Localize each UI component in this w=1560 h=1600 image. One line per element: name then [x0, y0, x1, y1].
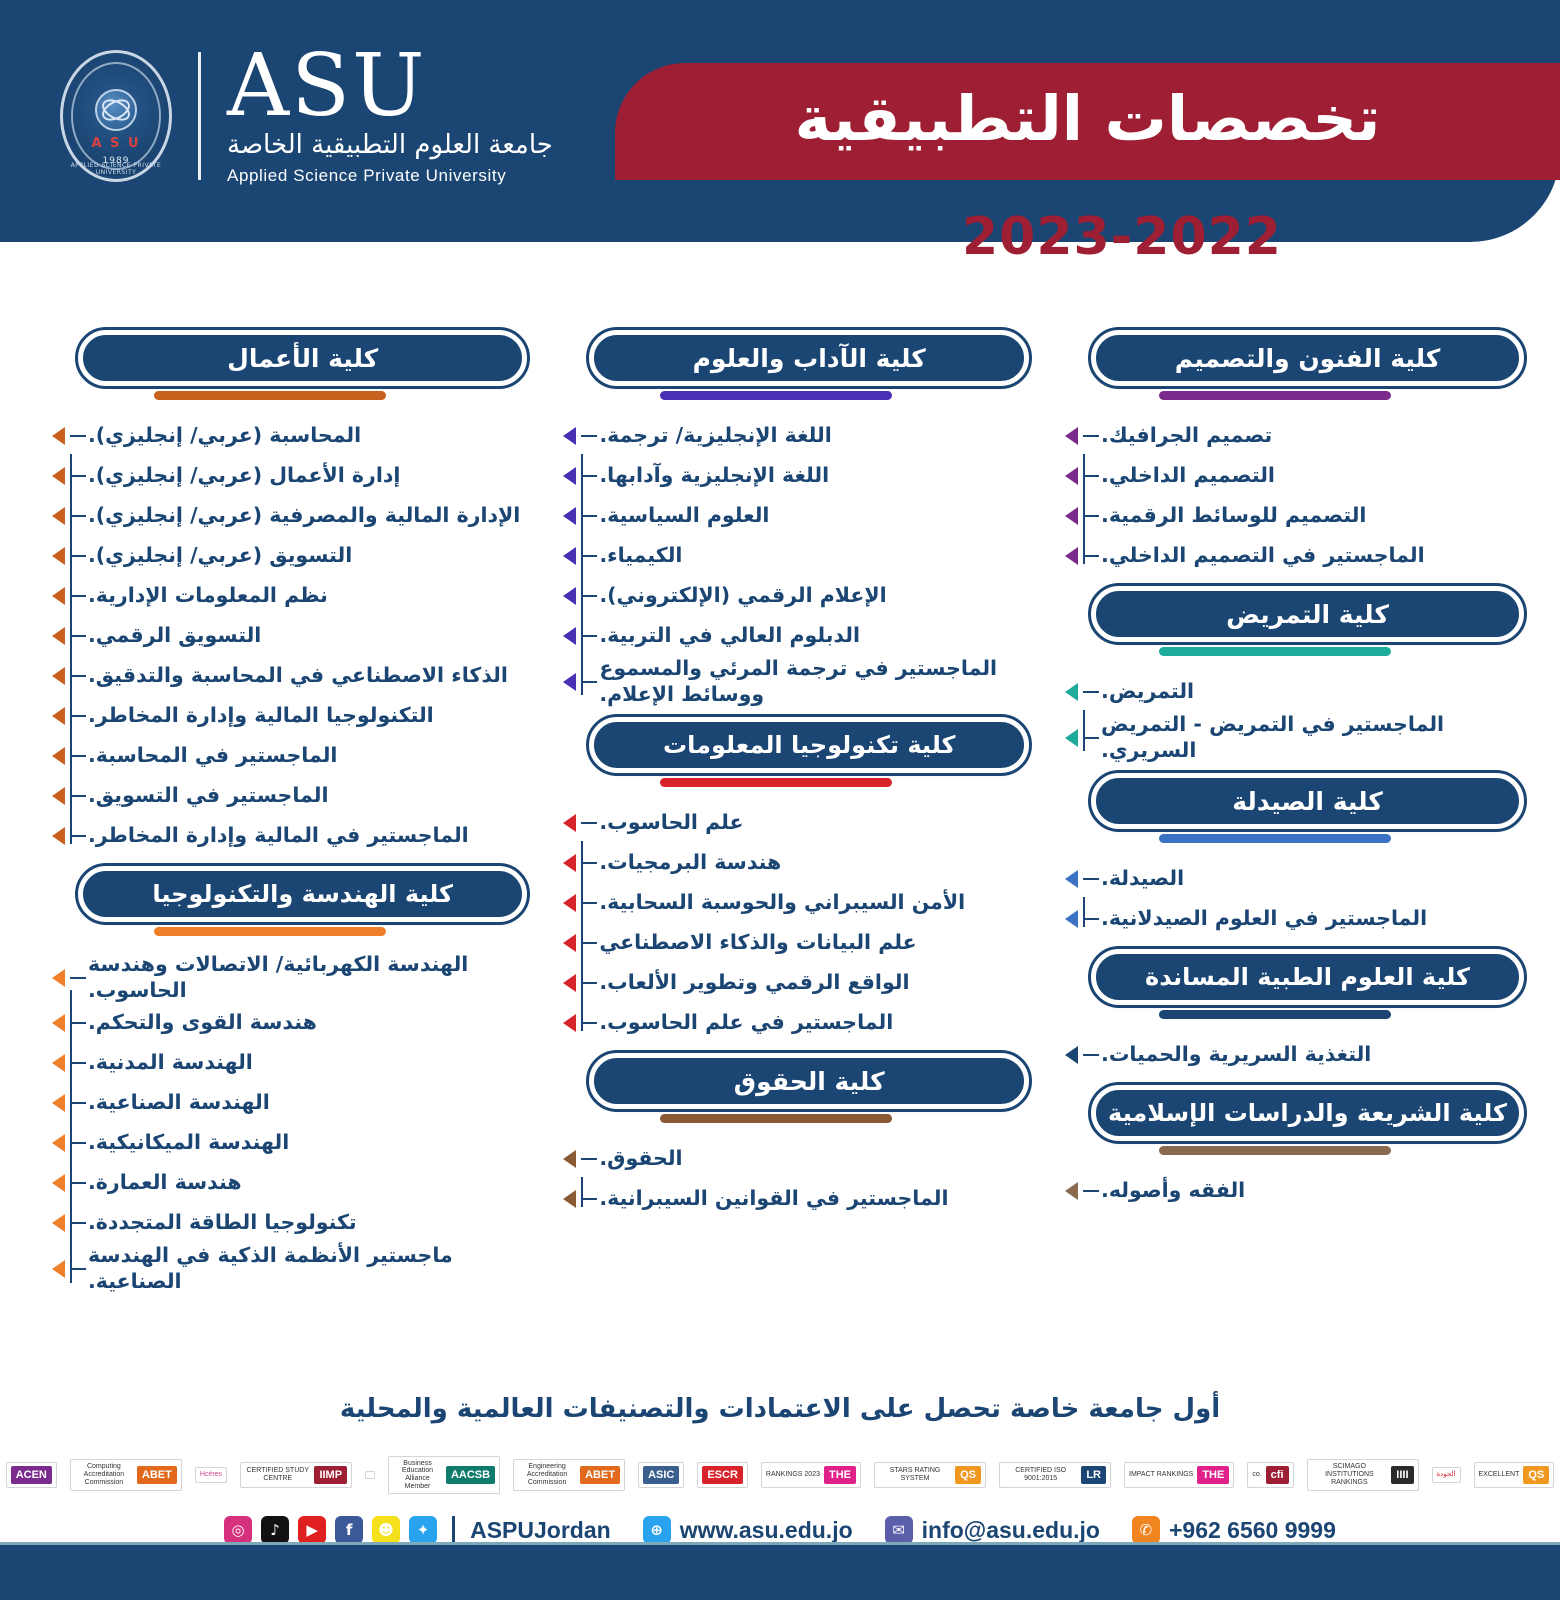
page-title: تخصصات التطبيقية	[795, 88, 1381, 156]
college-header[interactable]: كلية تكنولوجيا المعلومات	[537, 717, 1039, 787]
bullet-arrow-icon	[52, 587, 65, 605]
college-name-pill[interactable]: كلية العلوم الطبية المساندة	[1091, 949, 1524, 1005]
major-label: علم البيانات والذكاء الاصطناعي	[599, 930, 1039, 956]
major-label: نظم المعلومات الإدارية.	[88, 583, 537, 609]
college-name-label: كلية الصيدلة	[1220, 787, 1395, 816]
major-item[interactable]: الهندسة الميكانيكية.	[26, 1123, 537, 1163]
major-item[interactable]: الماجستير في التصميم الداخلي.	[1039, 536, 1534, 576]
major-label: تكنولوجيا الطاقة المتجددة.	[88, 1210, 537, 1236]
connector-stub	[70, 835, 86, 837]
connector-stub	[1083, 1190, 1099, 1192]
major-label: اللغة الإنجليزية وآدابها.	[599, 463, 1039, 489]
logo-caption: Business Education Alliance Member	[393, 1460, 442, 1491]
logo-mark: ASIC	[643, 1466, 679, 1484]
major-item[interactable]: تكنولوجيا الطاقة المتجددة.	[26, 1203, 537, 1243]
connector-stub	[1083, 1054, 1099, 1056]
major-item[interactable]: نظم المعلومات الإدارية.	[26, 576, 537, 616]
accreditation-logo-qs-stars: QSSTARS RATING SYSTEM	[874, 1452, 986, 1498]
major-item[interactable]: الكيمياء.	[537, 536, 1039, 576]
major-item[interactable]: الحقوق.	[537, 1139, 1039, 1179]
major-label: هندسة العمارة.	[88, 1170, 537, 1196]
wordmark-english: Applied Science Private University	[227, 166, 553, 186]
college-accent-bar	[154, 391, 386, 400]
website-link[interactable]: www.asu.edu.jo	[680, 1517, 853, 1544]
major-item[interactable]: الهندسة الكهربائية/ الاتصالات وهندسة الح…	[26, 952, 537, 1003]
bullet-arrow-icon	[52, 1214, 65, 1232]
major-item[interactable]: اللغة الإنجليزية/ ترجمة.	[537, 416, 1039, 456]
major-label: اللغة الإنجليزية/ ترجمة.	[599, 423, 1039, 449]
major-item[interactable]: اللغة الإنجليزية وآدابها.	[537, 456, 1039, 496]
connector-stub	[70, 435, 86, 437]
major-item[interactable]: الماجستير في علم الحاسوب.	[537, 1003, 1039, 1043]
bullet-arrow-icon	[52, 547, 65, 565]
globe-icon: ⊕	[643, 1516, 671, 1544]
college-block: كلية الآداب والعلوماللغة الإنجليزية/ ترج…	[537, 330, 1039, 707]
major-label: الكيمياء.	[599, 543, 1039, 569]
major-item[interactable]: التصميم الداخلي.	[1039, 456, 1534, 496]
major-item[interactable]: الهندسة المدنية.	[26, 1043, 537, 1083]
email-link[interactable]: info@asu.edu.jo	[922, 1517, 1100, 1544]
major-item[interactable]: تصميم الجرافيك.	[1039, 416, 1534, 456]
college-block: كلية تكنولوجيا المعلوماتعلم الحاسوب.هندس…	[537, 717, 1039, 1043]
bullet-arrow-icon	[52, 1260, 65, 1278]
bullet-arrow-icon	[52, 467, 65, 485]
college-name-pill[interactable]: كلية الحقوق	[589, 1053, 1029, 1109]
connector-stub	[581, 475, 597, 477]
accreditation-tagline: أول جامعة خاصة تحصل على الاعتمادات والتص…	[0, 1394, 1560, 1424]
connector-stub	[581, 555, 597, 557]
college-block: كلية التمريضالتمريض.الماجستير في التمريض…	[1039, 586, 1534, 763]
bullet-arrow-icon	[563, 974, 576, 992]
connector-stub	[70, 1268, 86, 1270]
bullet-arrow-icon	[563, 673, 576, 691]
bullet-arrow-icon	[1065, 683, 1078, 701]
major-item[interactable]: إدارة الأعمال (عربي/ إنجليزي).	[26, 456, 537, 496]
logo-mark: THE	[1197, 1466, 1229, 1484]
major-label: إدارة الأعمال (عربي/ إنجليزي).	[88, 463, 537, 489]
connector-stub	[1083, 475, 1099, 477]
college-header[interactable]: كلية الفنون والتصميم	[1039, 330, 1534, 400]
major-label: الماجستير في العلوم الصيدلانية.	[1101, 906, 1534, 932]
column-left: كلية الفنون والتصميمتصميم الجرافيك.التصم…	[1039, 330, 1534, 1370]
bullet-arrow-icon	[52, 827, 65, 845]
logo-caption: RANKINGS 2023	[766, 1471, 820, 1479]
colleges-grid: كلية الأعمالالمحاسبة (عربي/ إنجليزي).إدا…	[0, 330, 1560, 1370]
connector-stub	[581, 982, 597, 984]
logo-mark: THE	[824, 1466, 856, 1484]
majors-list: الفقه وأصوله.	[1039, 1171, 1534, 1211]
major-item[interactable]: هندسة البرمجيات.	[537, 843, 1039, 883]
major-label: الماجستير في التسويق.	[88, 783, 537, 809]
accreditation-logo-asic: ASIC	[638, 1452, 684, 1498]
major-label: الدبلوم العالي في التربية.	[599, 623, 1039, 649]
bullet-arrow-icon	[1065, 729, 1078, 747]
major-item[interactable]: التسويق (عربي/ إنجليزي).	[26, 536, 537, 576]
contact-bar: ◎♪▶f☻✦ASPUJordan⊕www.asu.edu.jo✉info@asu…	[0, 1516, 1560, 1544]
connector-stub	[70, 795, 86, 797]
bullet-arrow-icon	[52, 1094, 65, 1112]
wordmark-arabic: جامعة العلوم التطبيقية الخاصة	[227, 130, 553, 160]
major-item[interactable]: المحاسبة (عربي/ إنجليزي).	[26, 416, 537, 456]
accreditation-logo-abet-cac: ABETComputing Accreditation Commission	[70, 1452, 182, 1498]
university-seal-icon: A S U 1989 APPLIED SCIENCE PRIVATE UNIVE…	[60, 50, 172, 182]
logo-mark: cfi	[1266, 1466, 1289, 1484]
major-label: هندسة البرمجيات.	[599, 850, 1039, 876]
major-label: التسويق الرقمي.	[88, 623, 537, 649]
major-item[interactable]: الذكاء الاصطناعي في المحاسبة والتدقيق.	[26, 656, 537, 696]
major-item[interactable]: علم الحاسوب.	[537, 803, 1039, 843]
logo-mark: IIII	[1391, 1466, 1413, 1484]
connector-stub	[70, 635, 86, 637]
major-label: الإدارة المالية والمصرفية (عربي/ إنجليزي…	[88, 503, 537, 529]
bullet-arrow-icon	[563, 934, 576, 952]
major-label: الماجستير في التمريض - التمريض السريري.	[1101, 712, 1534, 763]
major-label: التكنولوجيا المالية وإدارة المخاطر.	[88, 703, 537, 729]
bottom-bar	[0, 1542, 1560, 1600]
connector-stub	[70, 1022, 86, 1024]
college-name-pill[interactable]: كلية الهندسة والتكنولوجيا	[78, 866, 527, 922]
major-label: ماجستير الأنظمة الذكية في الهندسة الصناع…	[88, 1243, 537, 1294]
college-name-label: كلية تكنولوجيا المعلومات	[651, 731, 968, 759]
college-block: كلية الهندسة والتكنولوجياالهندسة الكهربا…	[26, 866, 537, 1295]
bullet-arrow-icon	[563, 1190, 576, 1208]
connector-stub	[581, 1158, 597, 1160]
connector-stub	[581, 515, 597, 517]
college-name-label: كلية الهندسة والتكنولوجيا	[140, 880, 465, 908]
connector-stub	[581, 1022, 597, 1024]
bullet-arrow-icon	[52, 969, 65, 987]
logo-caption: Engineering Accreditation Commission	[518, 1463, 576, 1486]
major-item[interactable]: الماجستير في المالية وإدارة المخاطر.	[26, 816, 537, 856]
facebook-icon[interactable]: f	[335, 1516, 363, 1544]
major-item[interactable]: الماجستير في العلوم الصيدلانية.	[1039, 899, 1534, 939]
major-label: العلوم السياسية.	[599, 503, 1039, 529]
connector-stub	[70, 715, 86, 717]
bullet-arrow-icon	[52, 787, 65, 805]
major-item[interactable]: العلوم السياسية.	[537, 496, 1039, 536]
college-accent-bar	[660, 778, 892, 787]
bullet-arrow-icon	[1065, 507, 1078, 525]
social-handle[interactable]: ASPUJordan	[470, 1517, 611, 1544]
logo-caption: Hcéres	[200, 1471, 222, 1479]
major-item[interactable]: الواقع الرقمي وتطوير الألعاب.	[537, 963, 1039, 1003]
connector-stub	[581, 902, 597, 904]
major-label: الإعلام الرقمي (الإلكتروني).	[599, 583, 1039, 609]
major-label: الماجستير في التصميم الداخلي.	[1101, 543, 1534, 569]
connector-stub	[1083, 435, 1099, 437]
bullet-arrow-icon	[563, 547, 576, 565]
bullet-arrow-icon	[563, 427, 576, 445]
major-label: الأمن السيبراني والحوسبة السحابية.	[599, 890, 1039, 916]
bullet-arrow-icon	[1065, 467, 1078, 485]
major-label: التصميم الداخلي.	[1101, 463, 1534, 489]
bullet-arrow-icon	[563, 507, 576, 525]
college-name-label: كلية الأعمال	[215, 344, 390, 373]
bullet-arrow-icon	[1065, 1182, 1078, 1200]
logo-mark: LR	[1081, 1466, 1106, 1484]
accreditation-logo-globe-emblem	[365, 1452, 375, 1498]
college-name-pill[interactable]: كلية الشريعة والدراسات الإسلامية	[1091, 1085, 1524, 1141]
bullet-arrow-icon	[1065, 427, 1078, 445]
connector-stub	[70, 595, 86, 597]
bullet-arrow-icon	[1065, 910, 1078, 928]
bullet-arrow-icon	[52, 507, 65, 525]
connector-stub	[581, 635, 597, 637]
college-name-pill[interactable]: كلية الآداب والعلوم	[589, 330, 1029, 386]
major-label: هندسة القوى والتحكم.	[88, 1010, 537, 1036]
major-label: الهندسة المدنية.	[88, 1050, 537, 1076]
major-label: علم الحاسوب.	[599, 810, 1039, 836]
accreditation-logo-the-rankings: THERANKINGS 2023	[761, 1452, 861, 1498]
major-label: الماجستير في المحاسبة.	[88, 743, 537, 769]
logo-caption: CERTIFIED STUDY CENTRE	[245, 1467, 310, 1482]
bullet-arrow-icon	[52, 667, 65, 685]
major-item[interactable]: هندسة العمارة.	[26, 1163, 537, 1203]
logo-caption: SCIMAGO INSTITUTIONS RANKINGS	[1312, 1463, 1388, 1486]
seal-abbr: A S U	[63, 136, 169, 151]
bullet-arrow-icon	[563, 1014, 576, 1032]
envelope-icon: ✉	[885, 1516, 913, 1544]
connector-stub	[70, 1142, 86, 1144]
college-block: كلية الأعمالالمحاسبة (عربي/ إنجليزي).إدا…	[26, 330, 537, 856]
major-label: التصميم للوسائط الرقمية.	[1101, 503, 1534, 529]
logo-mark: AACSB	[446, 1466, 495, 1484]
logo-caption: EXCELLENT	[1479, 1471, 1520, 1479]
college-name-pill[interactable]: كلية تكنولوجيا المعلومات	[589, 717, 1029, 773]
college-accent-bar	[660, 391, 892, 400]
connector-stub	[581, 862, 597, 864]
college-name-pill[interactable]: كلية الأعمال	[78, 330, 527, 386]
college-accent-bar	[1159, 391, 1391, 400]
logo-mark: ACEN	[11, 1466, 52, 1484]
college-header[interactable]: كلية التمريض	[1039, 586, 1534, 656]
accreditation-logo-scimago: IIIISCIMAGO INSTITUTIONS RANKINGS	[1307, 1452, 1419, 1498]
majors-list: التمريض.الماجستير في التمريض - التمريض ا…	[1039, 672, 1534, 763]
bullet-arrow-icon	[52, 1014, 65, 1032]
college-block: كلية الصيدلةالصيدلة.الماجستير في العلوم …	[1039, 773, 1534, 939]
connector-stub	[70, 977, 86, 979]
college-name-pill[interactable]: كلية الصيدلة	[1091, 773, 1524, 829]
bullet-arrow-icon	[52, 427, 65, 445]
connector-stub	[581, 435, 597, 437]
accreditation-logo-hceres: Hcéres	[195, 1452, 227, 1498]
separator	[452, 1516, 455, 1544]
bullet-arrow-icon	[52, 1134, 65, 1152]
bullet-arrow-icon	[52, 747, 65, 765]
logo-mark: ESCR	[702, 1466, 743, 1484]
major-item[interactable]: الإدارة المالية والمصرفية (عربي/ إنجليزي…	[26, 496, 537, 536]
major-item[interactable]: التسويق الرقمي.	[26, 616, 537, 656]
college-block: كلية الشريعة والدراسات الإسلاميةالفقه وأ…	[1039, 1085, 1534, 1211]
major-label: الماجستير في المالية وإدارة المخاطر.	[88, 823, 537, 849]
tiktok-icon[interactable]: ♪	[261, 1516, 289, 1544]
college-name-label: كلية الحقوق	[722, 1067, 897, 1096]
seal-ring-text: APPLIED SCIENCE PRIVATE UNIVERSITY	[63, 162, 169, 176]
accreditation-logo-cfi-co: cfi.co	[1247, 1452, 1293, 1498]
majors-list: المحاسبة (عربي/ إنجليزي).إدارة الأعمال (…	[26, 416, 537, 856]
major-item[interactable]: علم البيانات والذكاء الاصطناعي	[537, 923, 1039, 963]
bullet-arrow-icon	[563, 814, 576, 832]
connector-stub	[1083, 737, 1099, 739]
major-item[interactable]: الفقه وأصوله.	[1039, 1171, 1534, 1211]
major-item[interactable]: الإعلام الرقمي (الإلكتروني).	[537, 576, 1039, 616]
majors-list: الهندسة الكهربائية/ الاتصالات وهندسة الح…	[26, 952, 537, 1295]
bullet-arrow-icon	[563, 894, 576, 912]
phone-icon: ✆	[1132, 1516, 1160, 1544]
bullet-arrow-icon	[52, 707, 65, 725]
major-label: الواقع الرقمي وتطوير الألعاب.	[599, 970, 1039, 996]
infographic-page: A S U 1989 APPLIED SCIENCE PRIVATE UNIVE…	[0, 0, 1560, 1600]
major-label: الهندسة الميكانيكية.	[88, 1130, 537, 1156]
connector-stub	[70, 1062, 86, 1064]
major-item[interactable]: الدبلوم العالي في التربية.	[537, 616, 1039, 656]
college-name-label: كلية التمريض	[1214, 600, 1401, 629]
accreditation-logo-jordan-quality: الجودة	[1432, 1452, 1461, 1498]
connector-stub	[70, 675, 86, 677]
connector-stub	[581, 595, 597, 597]
college-accent-bar	[1159, 647, 1391, 656]
major-label: المحاسبة (عربي/ إنجليزي).	[88, 423, 537, 449]
snapchat-icon[interactable]: ☻	[372, 1516, 400, 1544]
college-block: كلية الفنون والتصميمتصميم الجرافيك.التصم…	[1039, 330, 1534, 576]
bullet-arrow-icon	[1065, 547, 1078, 565]
college-header[interactable]: كلية الصيدلة	[1039, 773, 1534, 843]
accreditation-logo-iimp: IIMPCERTIFIED STUDY CENTRE	[240, 1452, 352, 1498]
college-header[interactable]: كلية الشريعة والدراسات الإسلامية	[1039, 1085, 1534, 1155]
major-label: الماجستير في علم الحاسوب.	[599, 1010, 1039, 1036]
instagram-icon[interactable]: ◎	[224, 1516, 252, 1544]
logo-caption: CERTIFIED ISO 9001:2015	[1004, 1467, 1077, 1482]
accreditation-logo-acen: ACEN	[6, 1452, 57, 1498]
accreditation-logo-qs-excellent: QSEXCELLENT	[1474, 1452, 1555, 1498]
logo-mark: QS	[955, 1466, 981, 1484]
logo-divider	[198, 52, 201, 180]
accreditation-logo-aacsb: AACSBBusiness Education Alliance Member	[388, 1452, 500, 1498]
connector-stub	[70, 1222, 86, 1224]
major-item[interactable]: ماجستير الأنظمة الذكية في الهندسة الصناع…	[26, 1243, 537, 1294]
bullet-arrow-icon	[563, 854, 576, 872]
accreditation-logos: QSEXCELLENTالجودةIIIISCIMAGO INSTITUTION…	[0, 1452, 1560, 1498]
college-accent-bar	[1159, 834, 1391, 843]
major-label: الصيدلة.	[1101, 866, 1534, 892]
college-header[interactable]: كلية الآداب والعلوم	[537, 330, 1039, 400]
major-item[interactable]: التكنولوجيا المالية وإدارة المخاطر.	[26, 696, 537, 736]
connector-stub	[1083, 515, 1099, 517]
major-label: الماجستير في ترجمة المرئي والمسموع ووسائ…	[599, 656, 1039, 707]
college-header[interactable]: كلية الحقوق	[537, 1053, 1039, 1123]
college-accent-bar	[1159, 1010, 1391, 1019]
logo-mark: IIMP	[314, 1466, 347, 1484]
major-item[interactable]: التغذية السريرية والحميات.	[1039, 1035, 1534, 1075]
bullet-arrow-icon	[52, 1054, 65, 1072]
major-item[interactable]: الماجستير في التسويق.	[26, 776, 537, 816]
college-block: كلية الحقوقالحقوق.الماجستير في القوانين …	[537, 1053, 1039, 1219]
connector-stub	[581, 1198, 597, 1200]
accreditation-logo-abet-eac: ABETEngineering Accreditation Commission	[513, 1452, 625, 1498]
college-accent-bar	[154, 927, 386, 936]
major-item[interactable]: الماجستير في التمريض - التمريض السريري.	[1039, 712, 1534, 763]
youtube-icon[interactable]: ▶	[298, 1516, 326, 1544]
major-label: الذكاء الاصطناعي في المحاسبة والتدقيق.	[88, 663, 537, 689]
major-item[interactable]: الماجستير في المحاسبة.	[26, 736, 537, 776]
connector-stub	[70, 555, 86, 557]
logo-mark: QS	[1523, 1466, 1549, 1484]
atom-icon	[95, 89, 137, 131]
majors-list: اللغة الإنجليزية/ ترجمة.اللغة الإنجليزية…	[537, 416, 1039, 707]
majors-list: الصيدلة.الماجستير في العلوم الصيدلانية.	[1039, 859, 1534, 939]
major-label: الهندسة الصناعية.	[88, 1090, 537, 1116]
major-item[interactable]: التصميم للوسائط الرقمية.	[1039, 496, 1534, 536]
logo-mark: ABET	[580, 1466, 620, 1484]
accreditation-logo-the-impact-rankings: THEIMPACT RANKINGS	[1124, 1452, 1234, 1498]
major-item[interactable]: الماجستير في القوانين السيبرانية.	[537, 1179, 1039, 1219]
bullet-arrow-icon	[563, 467, 576, 485]
major-label: التغذية السريرية والحميات.	[1101, 1042, 1534, 1068]
major-label: التسويق (عربي/ إنجليزي).	[88, 543, 537, 569]
bullet-arrow-icon	[1065, 870, 1078, 888]
major-item[interactable]: الماجستير في ترجمة المرئي والمسموع ووسائ…	[537, 656, 1039, 707]
logo-caption: .co	[1252, 1471, 1261, 1479]
major-item[interactable]: هندسة القوى والتحكم.	[26, 1003, 537, 1043]
page-header: A S U 1989 APPLIED SCIENCE PRIVATE UNIVE…	[0, 0, 1560, 242]
twitter-icon[interactable]: ✦	[409, 1516, 437, 1544]
college-name-label: كلية العلوم الطبية المساندة	[1133, 963, 1482, 991]
majors-list: علم الحاسوب.هندسة البرمجيات.الأمن السيبر…	[537, 803, 1039, 1043]
accreditation-logo-escr: ESCR	[697, 1452, 748, 1498]
college-name-label: كلية الآداب والعلوم	[681, 344, 938, 373]
major-item[interactable]: الهندسة الصناعية.	[26, 1083, 537, 1123]
college-accent-bar	[1159, 1146, 1391, 1155]
connector-stub	[1083, 878, 1099, 880]
connector-stub	[581, 942, 597, 944]
college-name-pill[interactable]: كلية التمريض	[1091, 586, 1524, 642]
logo-caption: IMPACT RANKINGS	[1129, 1471, 1193, 1479]
major-label: الهندسة الكهربائية/ الاتصالات وهندسة الح…	[88, 952, 537, 1003]
college-block: كلية العلوم الطبية المساندةالتغذية السري…	[1039, 949, 1534, 1075]
wordmark: ASU جامعة العلوم التطبيقية الخاصة Applie…	[227, 46, 553, 186]
college-header[interactable]: كلية العلوم الطبية المساندة	[1039, 949, 1534, 1019]
major-label: الحقوق.	[599, 1146, 1039, 1172]
connector-stub	[1083, 691, 1099, 693]
major-item[interactable]: التمريض.	[1039, 672, 1534, 712]
accreditation-logo-lloyds-register: LRCERTIFIED ISO 9001:2015	[999, 1452, 1111, 1498]
college-name-label: كلية الفنون والتصميم	[1163, 344, 1453, 373]
connector-stub	[1083, 555, 1099, 557]
phone-number[interactable]: +962 6560 9999	[1169, 1517, 1336, 1544]
column-middle: كلية الآداب والعلوماللغة الإنجليزية/ ترج…	[537, 330, 1039, 1370]
connector-stub	[70, 1182, 86, 1184]
column-right: كلية الأعمالالمحاسبة (عربي/ إنجليزي).إدا…	[26, 330, 537, 1370]
academic-year: 2023-2022	[962, 207, 1282, 267]
college-name-pill[interactable]: كلية الفنون والتصميم	[1091, 330, 1524, 386]
bullet-arrow-icon	[1065, 1046, 1078, 1064]
majors-list: الحقوق.الماجستير في القوانين السيبرانية.	[537, 1139, 1039, 1219]
bullet-arrow-icon	[563, 627, 576, 645]
major-label: تصميم الجرافيك.	[1101, 423, 1534, 449]
major-item[interactable]: الصيدلة.	[1039, 859, 1534, 899]
wordmark-latin: ASU	[227, 46, 553, 128]
connector-stub	[70, 515, 86, 517]
logo-mark: ABET	[137, 1466, 177, 1484]
major-item[interactable]: الأمن السيبراني والحوسبة السحابية.	[537, 883, 1039, 923]
connector-stub	[581, 822, 597, 824]
college-header[interactable]: كلية الأعمال	[26, 330, 537, 400]
logo-caption: الجودة	[1437, 1471, 1456, 1479]
logo-caption: Computing Accreditation Commission	[75, 1463, 133, 1486]
bullet-arrow-icon	[563, 587, 576, 605]
college-header[interactable]: كلية الهندسة والتكنولوجيا	[26, 866, 537, 936]
connector-stub	[1083, 918, 1099, 920]
